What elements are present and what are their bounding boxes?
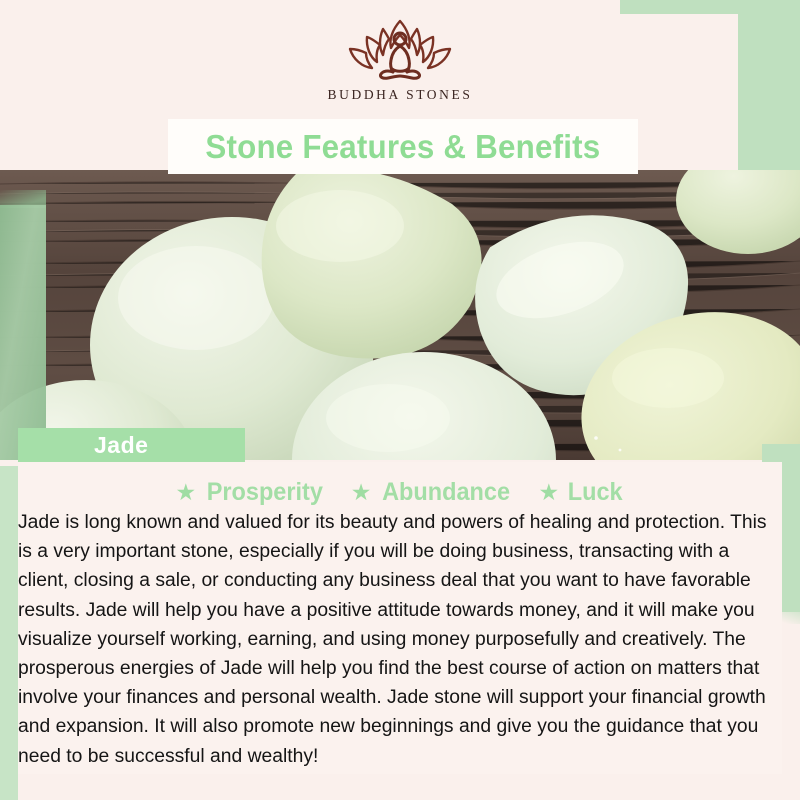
benefit-label: Abundance [382,478,510,507]
stone-name-bar: Jade [18,428,245,462]
benefits-row: ★ Prosperity ★ Abundance ★ Luck [0,478,800,507]
benefit-label: Luck [568,478,623,507]
stone-name: Jade [94,432,148,459]
decorative-band-left-lower [0,466,18,800]
title-banner: Stone Features & Benefits [168,119,638,174]
benefit-item: ★ Prosperity [175,478,326,507]
stone-photo-image [0,170,800,460]
benefit-item: ★ Abundance [351,478,515,507]
benefit-label: Prosperity [207,478,323,507]
stone-description: Jade is long known and valued for its be… [18,508,773,771]
star-icon: ★ [351,481,372,504]
decorative-bottom-strip [0,774,800,800]
brand-wordmark: BUDDHA STONES [328,87,473,103]
star-icon: ★ [175,481,196,504]
infographic-card: BUDDHA STONES [0,0,800,800]
page-title: Stone Features & Benefits [206,128,601,166]
star-icon: ★ [539,481,560,504]
benefit-item: ★ Luck [539,478,625,507]
stone-photo [0,170,800,460]
brand-logo: BUDDHA STONES [0,0,800,119]
decorative-bottom-left-green [0,774,18,800]
lotus-meditation-icon [326,17,474,83]
